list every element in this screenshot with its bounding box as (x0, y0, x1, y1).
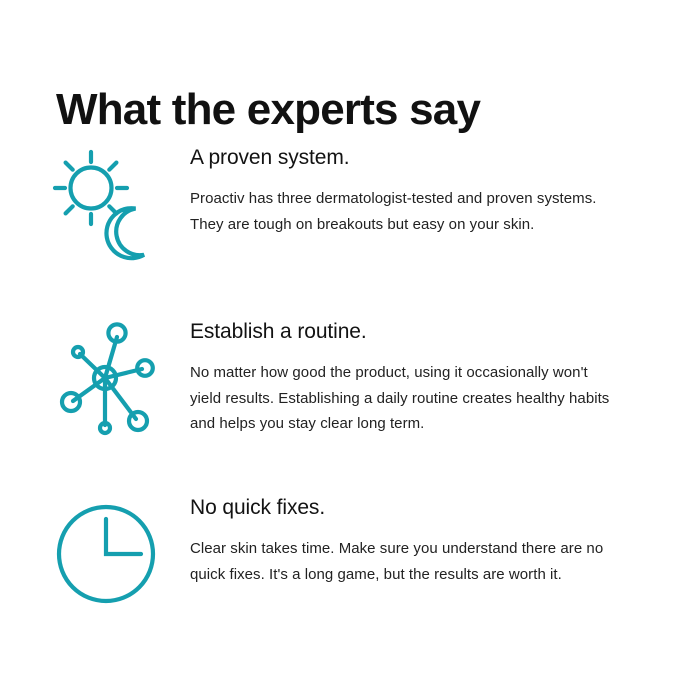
feature-text-block: No quick fixes. Clear skin takes time. M… (190, 488, 638, 587)
clock-icon-graphic (48, 488, 168, 614)
molecule-network-icon-graphic (48, 312, 168, 438)
feature-text-block: Establish a routine. No matter how good … (190, 312, 638, 437)
experts-say-panel: What the experts say A proven (0, 0, 679, 679)
feature-text-block: A proven system. Proactiv has three derm… (190, 138, 638, 237)
feature-body: No matter how good the product, using it… (190, 360, 610, 437)
clock-icon (48, 488, 190, 614)
feature-heading: Establish a routine. (190, 318, 638, 346)
feature-item-establish-routine: Establish a routine. No matter how good … (48, 312, 638, 438)
feature-body: Clear skin takes time. Make sure you und… (190, 536, 614, 587)
feature-heading: No quick fixes. (190, 494, 638, 522)
feature-heading: A proven system. (190, 144, 638, 172)
molecule-network-icon (48, 312, 190, 438)
feature-body: Proactiv has three dermatologist-tested … (190, 186, 610, 237)
sun-moon-icon (48, 138, 190, 264)
sun-moon-icon-graphic (48, 138, 168, 264)
page-title: What the experts say (56, 84, 480, 136)
feature-item-no-quick-fixes: No quick fixes. Clear skin takes time. M… (48, 488, 638, 614)
feature-item-proven-system: A proven system. Proactiv has three derm… (48, 138, 638, 264)
